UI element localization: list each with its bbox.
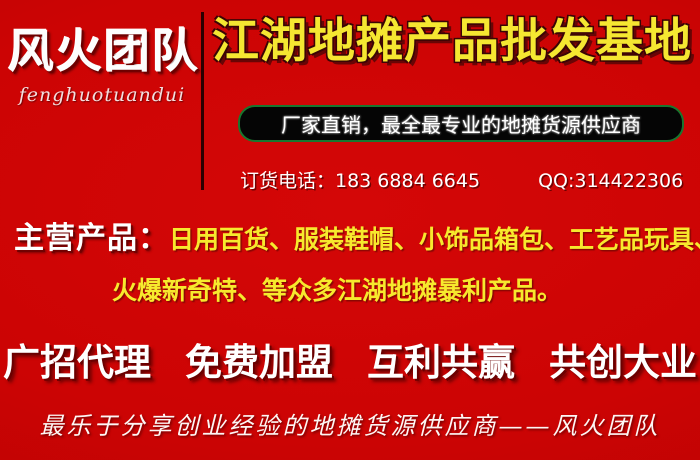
banner-header: 风火团队 fenghuotuandui 江湖地摊产品批发基地 厂家直销，最全最专…	[0, 0, 700, 200]
products-line-1: 主营产品： 日用百货、服装鞋帽、小饰品箱包、工艺品玩具、	[0, 213, 700, 257]
products-items-line-2: 火爆新奇特、等众多江湖地摊暴利产品。	[0, 271, 700, 307]
contact-qq: QQ:314422306	[538, 170, 683, 192]
brand-name-cn: 风火团队	[8, 28, 196, 74]
main-title: 江湖地摊产品批发基地	[212, 17, 692, 66]
products-items-line-1: 日用百货、服装鞋帽、小饰品箱包、工艺品玩具、	[169, 220, 700, 256]
vertical-divider	[201, 12, 204, 190]
slogan-build-business: 共创大业	[549, 332, 697, 386]
slogans-row: 广招代理 免费加盟 互利共赢 共创大业	[0, 332, 700, 386]
sub-banner: 厂家直销，最全最专业的地摊货源供应商	[238, 105, 684, 142]
brand-logo: 风火团队 fenghuotuandui	[8, 28, 196, 106]
footer-tagline: 最乐于分享创业经验的地摊货源供应商——风火团队	[40, 412, 661, 440]
contact-phone: 订货电话：183 6884 6645	[240, 166, 480, 193]
brand-name-pinyin: fenghuotuandui	[8, 84, 196, 106]
slogan-free-join: 免费加盟	[185, 332, 333, 386]
products-label: 主营产品：	[14, 213, 169, 257]
sub-banner-text: 厂家直销，最全最专业的地摊货源供应商	[281, 109, 641, 138]
contact-row: 订货电话：183 6884 6645 QQ:314422306	[240, 166, 690, 193]
advertisement-banner: 风火团队 fenghuotuandui 江湖地摊产品批发基地 厂家直销，最全最专…	[0, 0, 700, 460]
slogan-recruit-agents: 广招代理	[3, 332, 151, 386]
slogan-mutual-benefit: 互利共赢	[367, 332, 515, 386]
products-section: 主营产品： 日用百货、服装鞋帽、小饰品箱包、工艺品玩具、 火爆新奇特、等众多江湖…	[0, 213, 700, 307]
footer-section: 最乐于分享创业经验的地摊货源供应商——风火团队	[0, 406, 700, 441]
